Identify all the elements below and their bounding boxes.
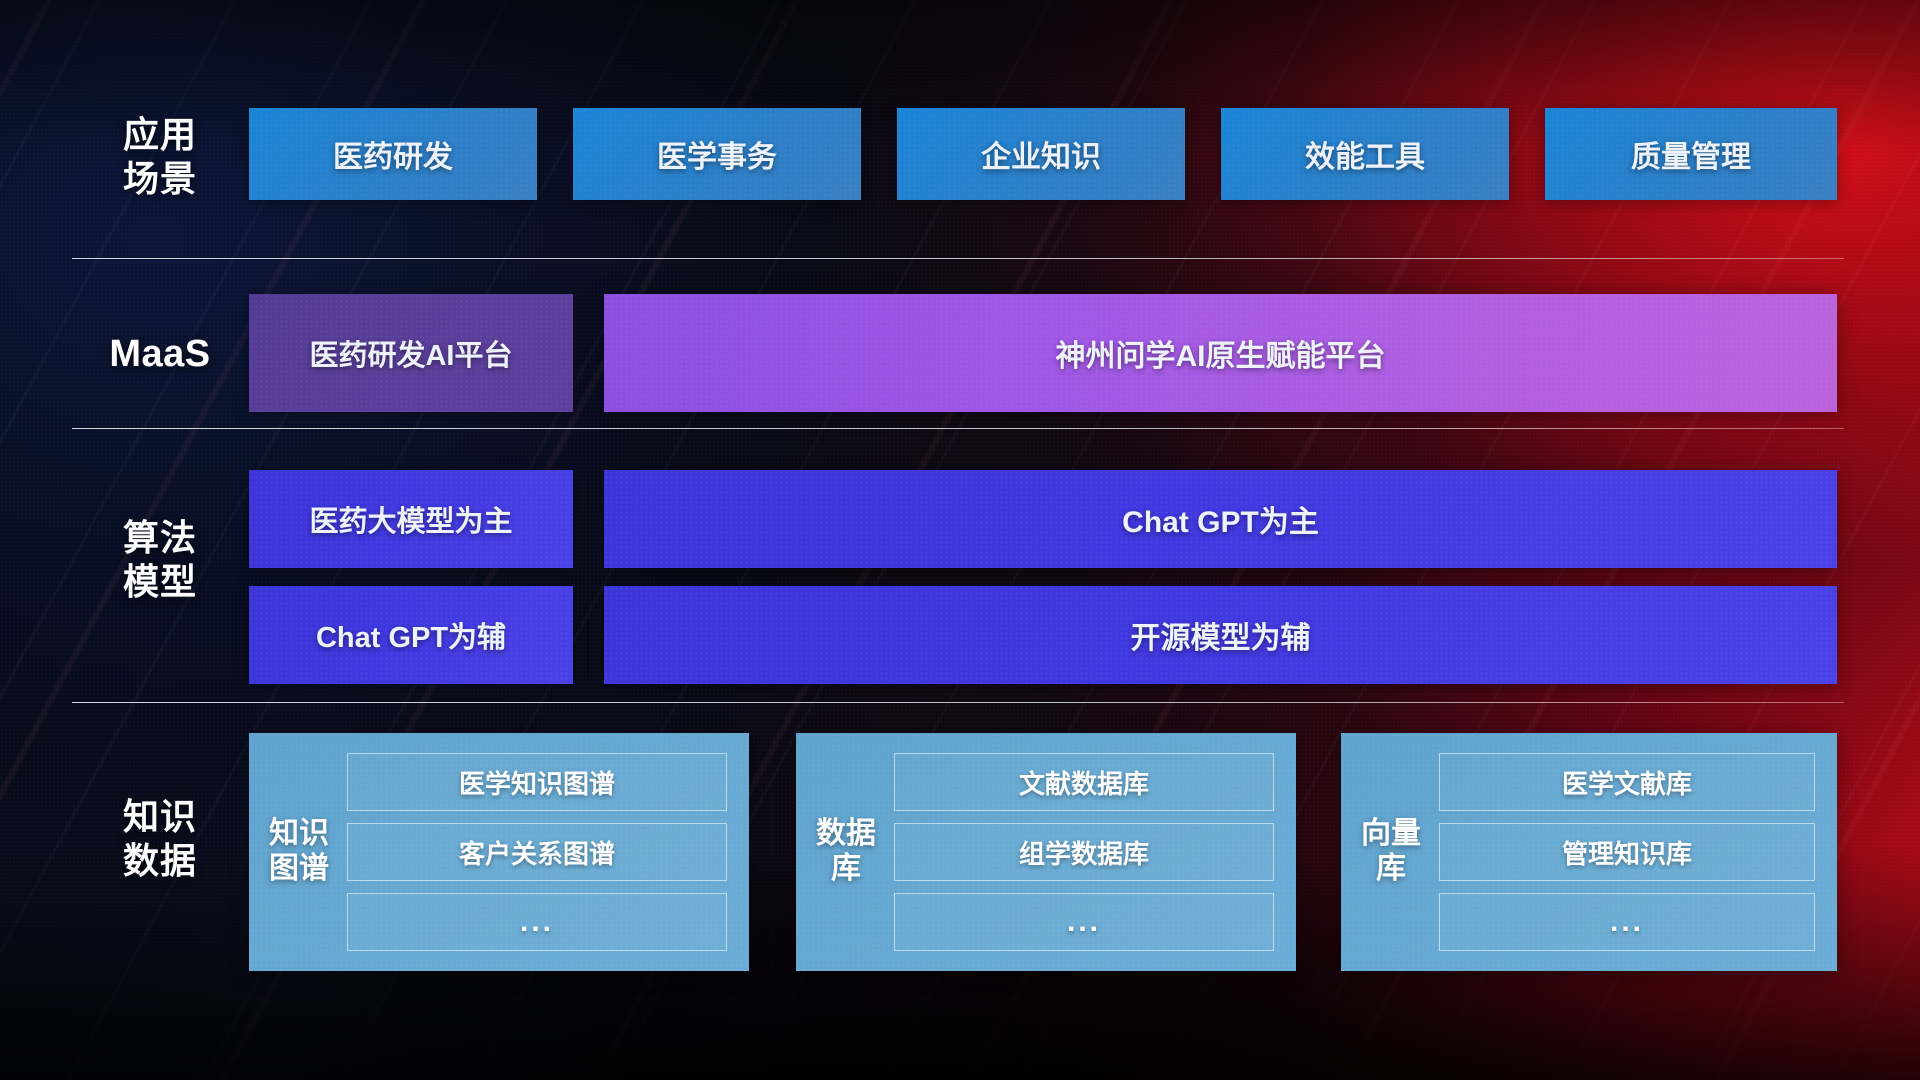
app-card-0[interactable]: 医药研发 bbox=[249, 108, 537, 200]
knowledge-group-vector-items: 医学文献库 管理知识库 ... bbox=[1439, 753, 1815, 951]
knowledge-group-database-title: 数据库 bbox=[814, 817, 878, 887]
app-card-3[interactable]: 效能工具 bbox=[1221, 108, 1509, 200]
row-label-maas-text: MaaS bbox=[72, 331, 248, 377]
knowledge-group-database-item-1[interactable]: 组学数据库 bbox=[894, 823, 1274, 881]
knowledge-group-database-item-2[interactable]: ... bbox=[894, 893, 1274, 951]
knowledge-group-database-item-0[interactable]: 文献数据库 bbox=[894, 753, 1274, 811]
slide-canvas: 应用 场景 医药研发 医学事务 企业知识 效能工具 质量管理 MaaS 医药研发… bbox=[0, 0, 1920, 1080]
knowledge-group-graph-item-2[interactable]: ... bbox=[347, 893, 727, 951]
row-label-knowledge-line1: 知识 bbox=[72, 795, 248, 839]
algorithm-card-0-right-label: Chat GPT为主 bbox=[1122, 497, 1319, 541]
row-label-application: 应用 场景 bbox=[72, 113, 248, 201]
algorithm-card-1-right[interactable]: 开源模型为辅 bbox=[604, 586, 1837, 684]
row-label-algorithm: 算法 模型 bbox=[72, 516, 248, 604]
algorithm-card-0-left[interactable]: 医药大模型为主 bbox=[249, 470, 573, 568]
knowledge-group-vector-item-2[interactable]: ... bbox=[1439, 893, 1815, 951]
algorithm-card-1-left-label: Chat GPT为辅 bbox=[316, 614, 506, 656]
row-label-knowledge: 知识 数据 bbox=[72, 795, 248, 883]
maas-card-drug-ai-platform-label: 医药研发AI平台 bbox=[309, 332, 512, 374]
divider-algorithm-knowledge bbox=[72, 702, 1844, 703]
knowledge-group-vector[interactable]: 向量库 医学文献库 管理知识库 ... bbox=[1341, 733, 1837, 971]
row-label-application-line2: 场景 bbox=[72, 157, 248, 201]
algorithm-card-1-left[interactable]: Chat GPT为辅 bbox=[249, 586, 573, 684]
row-label-application-line1: 应用 bbox=[72, 113, 248, 157]
knowledge-group-vector-item-0[interactable]: 医学文献库 bbox=[1439, 753, 1815, 811]
knowledge-group-graph-item-0[interactable]: 医学知识图谱 bbox=[347, 753, 727, 811]
row-label-algorithm-line2: 模型 bbox=[72, 560, 248, 604]
divider-application-maas bbox=[72, 258, 1844, 259]
architecture-diagram: 应用 场景 医药研发 医学事务 企业知识 效能工具 质量管理 MaaS 医药研发… bbox=[0, 0, 1920, 1080]
algorithm-card-1-right-label: 开源模型为辅 bbox=[1131, 613, 1311, 657]
app-card-2-label: 企业知识 bbox=[981, 132, 1101, 176]
knowledge-group-graph-title: 知识图谱 bbox=[267, 817, 331, 887]
app-card-2[interactable]: 企业知识 bbox=[897, 108, 1185, 200]
app-card-4[interactable]: 质量管理 bbox=[1545, 108, 1837, 200]
knowledge-group-graph-item-1[interactable]: 客户关系图谱 bbox=[347, 823, 727, 881]
app-card-3-label: 效能工具 bbox=[1305, 132, 1425, 176]
row-label-knowledge-line2: 数据 bbox=[72, 839, 248, 883]
knowledge-group-graph[interactable]: 知识图谱 医学知识图谱 客户关系图谱 ... bbox=[249, 733, 749, 971]
row-label-algorithm-line1: 算法 bbox=[72, 516, 248, 560]
app-card-1[interactable]: 医学事务 bbox=[573, 108, 861, 200]
algorithm-card-0-left-label: 医药大模型为主 bbox=[309, 498, 512, 540]
knowledge-group-database[interactable]: 数据库 文献数据库 组学数据库 ... bbox=[796, 733, 1296, 971]
knowledge-group-vector-item-1[interactable]: 管理知识库 bbox=[1439, 823, 1815, 881]
app-card-0-label: 医药研发 bbox=[333, 132, 453, 176]
maas-card-shenzhou-platform[interactable]: 神州问学AI原生赋能平台 bbox=[604, 294, 1837, 412]
maas-card-drug-ai-platform[interactable]: 医药研发AI平台 bbox=[249, 294, 573, 412]
app-card-1-label: 医学事务 bbox=[657, 132, 777, 176]
knowledge-group-database-items: 文献数据库 组学数据库 ... bbox=[894, 753, 1274, 951]
app-card-4-label: 质量管理 bbox=[1631, 132, 1751, 176]
row-label-maas: MaaS bbox=[72, 331, 248, 377]
knowledge-group-graph-items: 医学知识图谱 客户关系图谱 ... bbox=[347, 753, 727, 951]
knowledge-group-vector-title: 向量库 bbox=[1359, 817, 1423, 887]
maas-card-shenzhou-platform-label: 神州问学AI原生赋能平台 bbox=[1056, 331, 1386, 375]
algorithm-card-0-right[interactable]: Chat GPT为主 bbox=[604, 470, 1837, 568]
divider-maas-algorithm bbox=[72, 428, 1844, 429]
